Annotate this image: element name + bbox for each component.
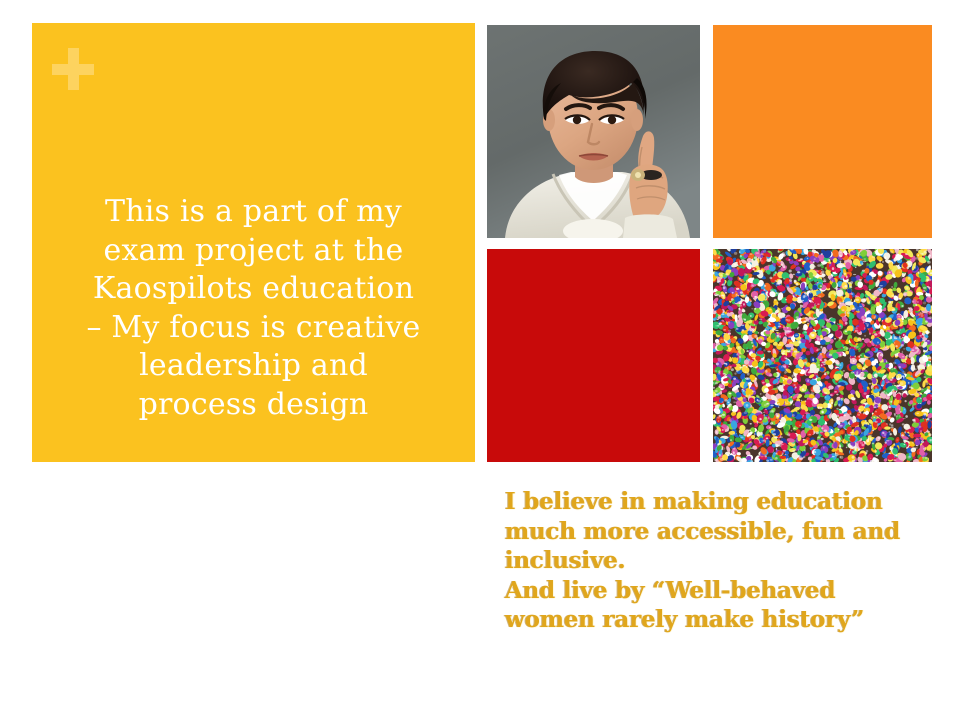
slide-canvas: This is a part of my exam project at the… [0, 0, 960, 720]
orange-color-block [713, 25, 932, 238]
sprinkles-photo-graphic [713, 249, 932, 462]
portrait-photo-graphic [487, 25, 700, 238]
title-panel: This is a part of my exam project at the… [32, 23, 475, 462]
portrait-photo [487, 25, 700, 238]
red-color-block [487, 249, 700, 462]
slide-title-text: This is a part of my exam project at the… [60, 193, 447, 424]
plus-icon[interactable] [52, 48, 94, 90]
sprinkles-photo [713, 249, 932, 462]
caption-text: I believe in making education much more … [505, 487, 905, 635]
plus-icon-vertical-bar [68, 48, 79, 90]
